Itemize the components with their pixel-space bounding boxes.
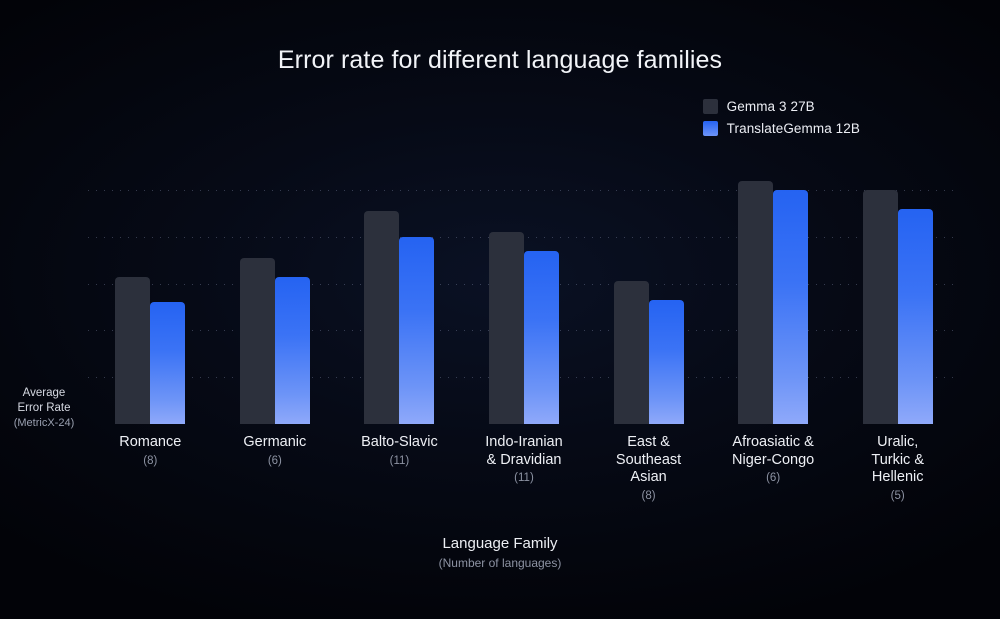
x-axis-label: East & Southeast Asian(8) bbox=[586, 434, 711, 505]
x-axis-title-main: Language Family bbox=[0, 535, 1000, 552]
x-axis-label-count: (8) bbox=[586, 488, 711, 506]
bar[interactable] bbox=[524, 251, 559, 424]
x-axis-title-sub: (Number of languages) bbox=[0, 556, 1000, 570]
bar[interactable] bbox=[773, 190, 808, 424]
bar[interactable] bbox=[738, 181, 773, 424]
x-axis-label-name: Romance bbox=[88, 434, 213, 452]
legend-swatch-gemma-3-27b bbox=[703, 99, 718, 114]
x-axis-label-count: (6) bbox=[213, 453, 338, 471]
x-axis-label-count: (6) bbox=[711, 470, 836, 488]
bar-group bbox=[337, 160, 462, 424]
x-axis-label-name: Germanic bbox=[213, 434, 338, 452]
bar-group bbox=[835, 160, 960, 424]
chart-title: Error rate for different language famili… bbox=[0, 46, 1000, 75]
y-axis-title: Average Error Rate (MetricX-24) bbox=[0, 386, 88, 431]
x-axis-label: Afroasiatic & Niger-Congo(6) bbox=[711, 434, 836, 488]
bar[interactable] bbox=[275, 277, 310, 424]
bar[interactable] bbox=[115, 277, 150, 424]
y-axis-title-line-3: (MetricX-24) bbox=[0, 416, 88, 431]
x-axis-label-name: East & Southeast Asian bbox=[586, 434, 711, 487]
bar-group bbox=[586, 160, 711, 424]
x-axis-label-name: Balto-Slavic bbox=[337, 434, 462, 452]
x-axis-label-name: Uralic, Turkic & Hellenic bbox=[835, 434, 960, 487]
bar-group bbox=[213, 160, 338, 424]
x-axis-label: Germanic(6) bbox=[213, 434, 338, 470]
x-axis-label-count: (11) bbox=[462, 470, 587, 488]
x-axis-label-count: (8) bbox=[88, 453, 213, 471]
x-axis-label: Uralic, Turkic & Hellenic(5) bbox=[835, 434, 960, 505]
legend-label-translategemma-12b: TranslateGemma 12B bbox=[727, 121, 860, 136]
x-axis-label-count: (11) bbox=[337, 453, 462, 471]
bar[interactable] bbox=[489, 232, 524, 424]
bar-group bbox=[462, 160, 587, 424]
x-axis-title: Language Family (Number of languages) bbox=[0, 535, 1000, 570]
bar[interactable] bbox=[898, 209, 933, 424]
legend-label-gemma-3-27b: Gemma 3 27B bbox=[727, 99, 815, 114]
bar[interactable] bbox=[649, 300, 684, 424]
bar[interactable] bbox=[614, 281, 649, 424]
bar[interactable] bbox=[150, 302, 185, 424]
bar[interactable] bbox=[240, 258, 275, 424]
chart-legend: Gemma 3 27B TranslateGemma 12B bbox=[703, 99, 860, 136]
bar-group bbox=[88, 160, 213, 424]
x-axis-label: Indo-Iranian & Dravidian(11) bbox=[462, 434, 587, 488]
x-axis-label-count: (5) bbox=[835, 488, 960, 506]
x-axis-label-name: Indo-Iranian & Dravidian bbox=[462, 434, 587, 469]
x-axis-label-name: Afroasiatic & Niger-Congo bbox=[711, 434, 836, 469]
bar-series-container bbox=[88, 160, 960, 424]
x-axis-label: Romance(8) bbox=[88, 434, 213, 470]
y-axis-title-line-2: Error Rate bbox=[0, 401, 88, 416]
y-axis-title-line-1: Average bbox=[0, 386, 88, 401]
bar-group bbox=[711, 160, 836, 424]
legend-item-translategemma-12b[interactable]: TranslateGemma 12B bbox=[703, 121, 860, 136]
legend-swatch-translategemma-12b bbox=[703, 121, 718, 136]
bar[interactable] bbox=[863, 190, 898, 424]
x-axis-category-labels: Romance(8)Germanic(6)Balto-Slavic(11)Ind… bbox=[88, 434, 960, 514]
x-axis-label: Balto-Slavic(11) bbox=[337, 434, 462, 470]
bar[interactable] bbox=[399, 237, 434, 424]
bar[interactable] bbox=[364, 211, 399, 424]
legend-item-gemma-3-27b[interactable]: Gemma 3 27B bbox=[703, 99, 860, 114]
chart-canvas: Error rate for different language famili… bbox=[0, 0, 1000, 619]
